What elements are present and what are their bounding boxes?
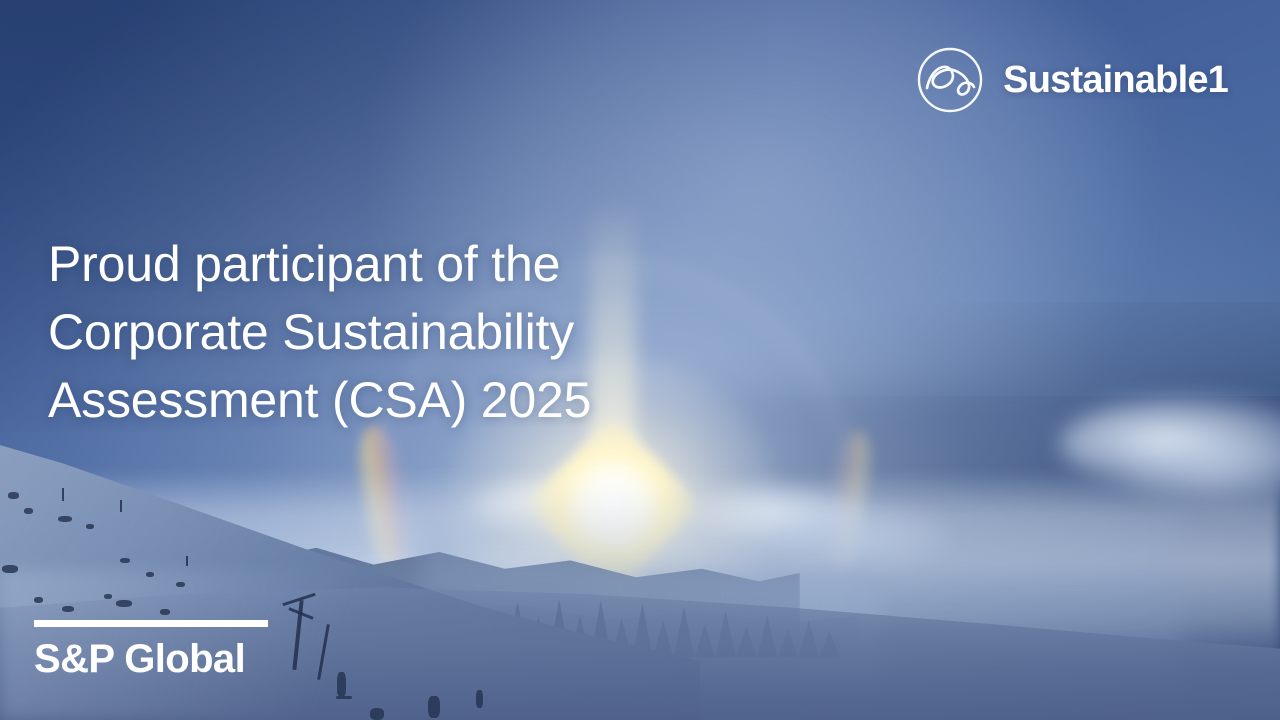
slope-rock: [120, 558, 130, 563]
page-title: Proud participant of the Corporate Susta…: [48, 230, 708, 434]
slope-rock: [62, 606, 74, 612]
sustainable1-circle-wave-icon: [914, 44, 986, 116]
slope-rock: [24, 508, 33, 514]
slope-rock: [34, 597, 43, 603]
skier: [428, 696, 440, 718]
sp-global-wordmark: S&P Global: [34, 638, 268, 680]
presentation-slide: Sustainable1 Proud participant of the Co…: [0, 0, 1280, 720]
skier: [336, 696, 352, 699]
slope-rock: [8, 492, 19, 499]
slope-rock: [176, 582, 185, 587]
piste-marker-pole: [186, 556, 188, 566]
skier: [370, 708, 384, 720]
slope-rock: [160, 609, 170, 615]
slope-rock: [116, 600, 132, 607]
piste-marker-pole: [120, 500, 122, 512]
slope-rock: [104, 594, 112, 599]
piste-marker-pole: [62, 488, 64, 501]
slope-rock: [2, 565, 18, 573]
sp-global-rule: [34, 620, 268, 627]
sp-global-logo: S&P Global: [34, 620, 268, 680]
slope-rock: [58, 516, 72, 522]
skier: [337, 672, 346, 696]
sustainable1-wordmark: Sustainable1: [1003, 61, 1228, 99]
skier: [476, 690, 483, 708]
slope-rock: [146, 572, 154, 577]
slope-rock: [86, 524, 94, 529]
sustainable1-logo: Sustainable1: [914, 44, 1228, 116]
